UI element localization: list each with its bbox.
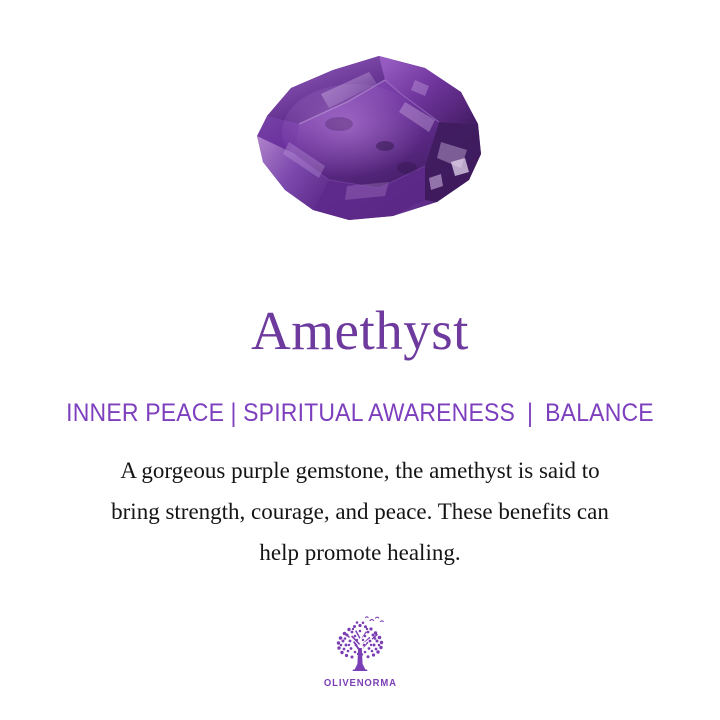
birds-icon [366,617,384,622]
keyword-separator: | [515,397,545,430]
brand-wordmark: OLIVENORMA [324,678,397,689]
description-text: A gorgeous purple gemstone, the amethyst… [40,450,680,573]
keyword-spiritual-awareness: SPIRITUAL AWARENESS [243,399,515,427]
amethyst-crystal-image [229,50,491,236]
keyword-list: INNER PEACE|SPIRITUAL AWARENESS|BALANCE [29,398,691,429]
description-line: help promote healing. [40,532,680,573]
description-line: bring strength, courage, and peace. Thes… [40,491,680,532]
brand-logo: OLIVENORMA [300,614,420,689]
keyword-inner-peace: INNER PEACE [66,399,224,427]
amethyst-crystal-icon [229,50,491,236]
amethyst-info-card: Amethyst INNER PEACE|SPIRITUAL AWARENESS… [0,0,720,720]
tree-of-life-icon [327,614,393,676]
keyword-balance: BALANCE [545,399,654,427]
hero-image-area [0,0,720,285]
page-title: Amethyst [0,300,720,362]
keyword-separator: | [224,397,243,430]
description-line: A gorgeous purple gemstone, the amethyst… [40,450,680,491]
